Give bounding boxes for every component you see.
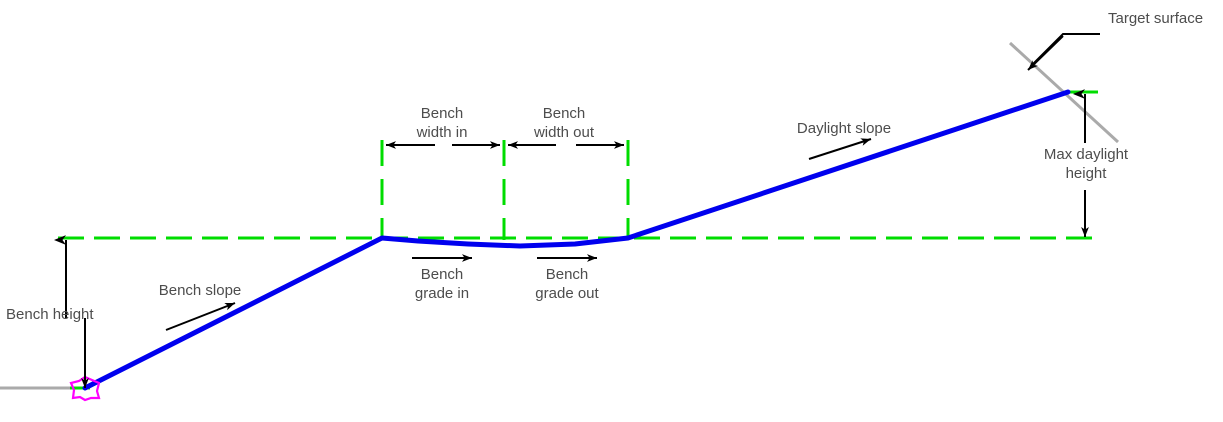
bench-width-in-label-line1: Bench	[396, 104, 488, 123]
max-daylight-height-label-line2: height	[1028, 164, 1144, 183]
bench-height-label: Bench height	[6, 305, 131, 324]
daylight-slope-arrow	[809, 139, 871, 159]
target-surface-pointer-arrow	[1028, 36, 1063, 70]
target-surface-label: Target surface	[1108, 9, 1223, 28]
bench-grade-out-label-line1: Bench	[521, 265, 613, 284]
grading-criteria-diagram: Bench height Bench slope Bench width in …	[0, 0, 1223, 422]
bench-grade-out-label-line2: grade out	[521, 284, 613, 303]
diagram-canvas	[0, 0, 1223, 422]
bench-width-in-label-line2: width in	[396, 123, 488, 142]
bench-grade-in-label-line1: Bench	[396, 265, 488, 284]
daylight-slope-label: Daylight slope	[789, 119, 899, 138]
bench-grade-in-label-line2: grade in	[396, 284, 488, 303]
target-surface-leader	[1031, 34, 1100, 66]
bench-width-out-label-line1: Bench	[518, 104, 610, 123]
max-daylight-height-label-line1: Max daylight	[1028, 145, 1144, 164]
bench-slope-label: Bench slope	[150, 281, 250, 300]
bench-width-out-label-line2: width out	[518, 123, 610, 142]
